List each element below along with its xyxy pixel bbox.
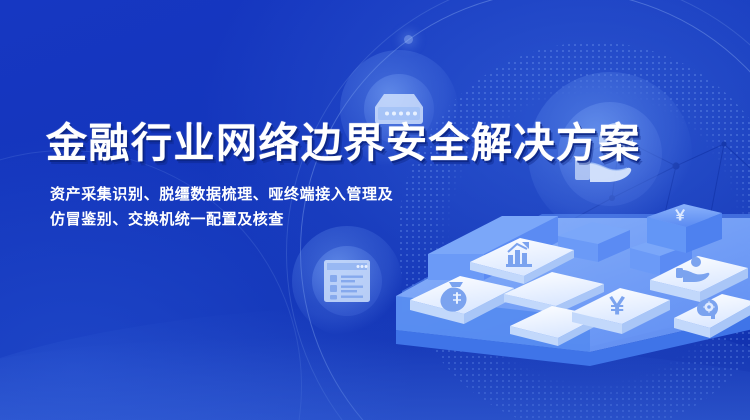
marketing-banner: 金融行业网络边界安全解决方案 资产采集识别、脱缰数据梳理、哑终端接入管理及 仿冒… (0, 0, 750, 420)
glow-dot-icon (404, 35, 413, 44)
page-subtitle: 资产采集识别、脱缰数据梳理、哑终端接入管理及 仿冒鉴别、交换机统一配置及核查 (50, 182, 516, 232)
hero-text-block: 金融行业网络边界安全解决方案 资产采集识别、脱缰数据梳理、哑终端接入管理及 仿冒… (46, 118, 516, 232)
subtitle-line-1: 资产采集识别、脱缰数据梳理、哑终端接入管理及 (50, 182, 516, 207)
subtitle-line-2: 仿冒鉴别、交换机统一配置及核查 (50, 207, 516, 232)
badge-data-checklist (292, 226, 402, 336)
checklist-window-icon (322, 258, 372, 304)
page-title: 金融行业网络边界安全解决方案 (46, 118, 516, 168)
